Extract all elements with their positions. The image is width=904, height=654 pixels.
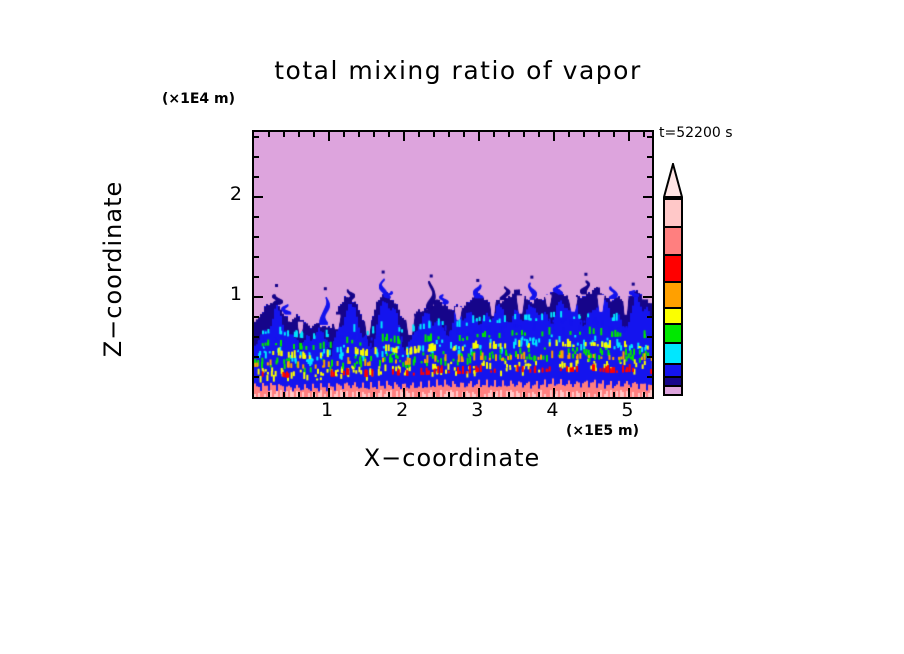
axis-tick [628,388,630,397]
time-annotation: t=52200 s [659,125,733,141]
axis-tick [254,256,259,258]
axis-tick [583,392,585,397]
axis-tick [523,132,525,137]
colorbar-separator [665,323,681,325]
axis-tick [647,316,652,318]
axis-tick [647,236,652,238]
colorbar-band [665,386,681,394]
contour-plot-area [252,130,654,399]
axis-tick [403,388,405,397]
axis-tick [647,336,652,338]
y-axis-unit-label: (×1E4 m) [162,91,235,107]
axis-tick [643,296,652,298]
colorbar-bands [663,198,683,396]
x-tick-label: 5 [607,399,647,421]
axis-tick [463,132,465,137]
axis-tick [373,132,375,137]
axis-tick [647,356,652,358]
axis-tick [538,392,540,397]
colorbar-separator [665,254,681,256]
axis-tick [313,132,315,137]
x-tick-label: 1 [307,399,347,421]
y-tick-label: 1 [212,283,242,305]
colorbar-band [665,282,681,308]
axis-tick [313,392,315,397]
colorbar-separator [665,226,681,228]
axis-tick [328,132,330,141]
axis-tick [647,276,652,278]
axis-tick [254,296,263,298]
axis-tick [373,392,375,397]
colorbar-band [665,324,681,342]
axis-tick [254,176,259,178]
axis-tick [613,392,615,397]
axis-tick [598,392,600,397]
axis-tick [268,132,270,137]
page-title: total mixing ratio of vapor [248,56,668,85]
axis-tick [643,132,645,137]
colorbar-separator [665,363,681,365]
colorbar-band [665,255,681,282]
axis-tick [568,132,570,137]
axis-tick [478,132,480,141]
axis-tick [268,392,270,397]
axis-tick [433,132,435,137]
axis-tick [493,132,495,137]
axis-tick [643,196,652,198]
axis-tick [343,392,345,397]
colorbar-band [665,343,681,364]
axis-tick [254,276,259,278]
axis-tick [647,376,652,378]
axis-tick [583,132,585,137]
axis-tick [283,392,285,397]
x-tick-label: 3 [457,399,497,421]
axis-tick [283,132,285,137]
colorbar-separator [665,307,681,309]
axis-tick [553,388,555,397]
colorbar-separator [665,281,681,283]
axis-tick [508,392,510,397]
axis-tick [388,132,390,137]
axis-tick [568,392,570,397]
axis-tick [418,392,420,397]
axis-tick [538,132,540,137]
axis-tick [343,132,345,137]
axis-tick [388,392,390,397]
axis-tick [254,136,259,138]
colorbar-band [665,200,681,227]
axis-tick [553,132,555,141]
axis-tick [613,132,615,137]
axis-tick [254,316,259,318]
axis-tick [647,176,652,178]
axis-tick [254,356,259,358]
axis-tick [643,392,645,397]
axis-tick [254,216,259,218]
y-axis-title: Z−coordinate [99,144,127,394]
colorbar-band [665,227,681,254]
axis-tick [403,132,405,141]
axis-tick [254,196,263,198]
axis-tick [463,392,465,397]
colorbar-arrow-cap-icon [663,163,683,198]
axis-tick [328,388,330,397]
axis-tick [448,392,450,397]
axis-tick [628,132,630,141]
axis-tick [358,392,360,397]
axis-tick [418,132,420,137]
axis-tick [254,336,259,338]
y-tick-label: 2 [212,183,242,205]
axis-tick [298,392,300,397]
axis-tick [298,132,300,137]
colorbar-separator [665,376,681,378]
axis-tick [598,132,600,137]
axis-tick [433,392,435,397]
axis-tick [647,256,652,258]
axis-tick [254,156,259,158]
axis-tick [254,236,259,238]
x-tick-label: 2 [382,399,422,421]
axis-tick [448,132,450,137]
axis-tick [358,132,360,137]
colorbar-separator [665,385,681,387]
axis-tick [493,392,495,397]
axis-tick [647,156,652,158]
x-axis-title: X−coordinate [250,444,654,472]
axis-tick [478,388,480,397]
axis-tick [508,132,510,137]
x-axis-unit-label: (×1E5 m) [566,423,639,439]
axis-tick [647,136,652,138]
colorbar-separator [665,342,681,344]
axis-tick [254,376,259,378]
axis-tick [647,216,652,218]
axis-tick [523,392,525,397]
colorbar-band [665,308,681,324]
figure-canvas: total mixing ratio of vapor (×1E4 m) t=5… [0,0,904,654]
contour-field [254,132,652,397]
x-tick-label: 4 [532,399,572,421]
